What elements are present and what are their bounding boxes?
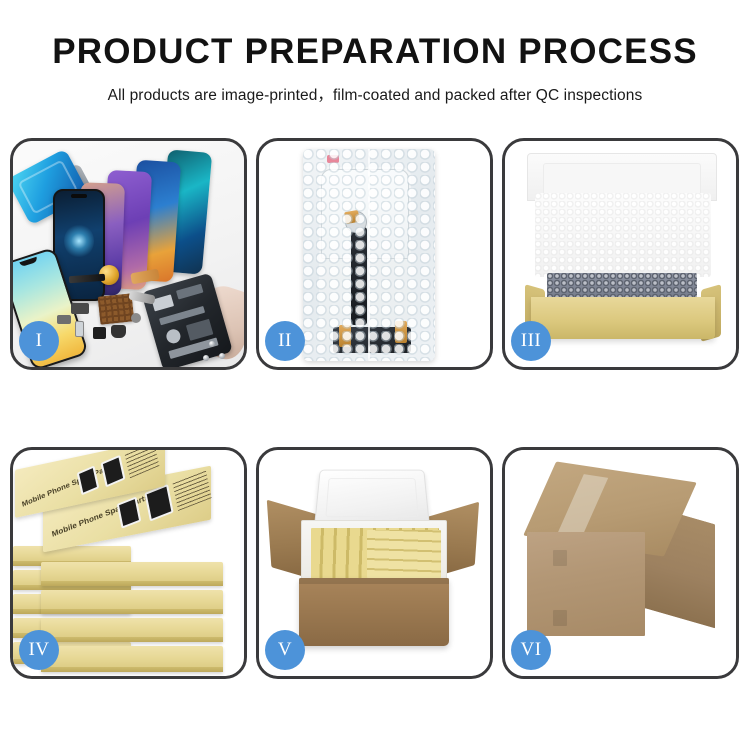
retail-box-spec-lines-2 (172, 470, 211, 511)
bubble-wrap-bag-graphic (303, 149, 435, 361)
retail-box-front-2 (41, 590, 223, 614)
retail-box-front-1 (41, 562, 223, 586)
step-badge-4: IV (19, 630, 59, 670)
packed-yellow-boxes-row-2 (367, 530, 441, 578)
step-badge-2: II (265, 321, 305, 361)
carton-front-face-graphic (527, 532, 645, 636)
screw-1-graphic (209, 341, 215, 347)
page-title: PRODUCT PREPARATION PROCESS (0, 34, 750, 71)
carton-front-wall-graphic (299, 578, 449, 646)
step-badge-5: V (265, 630, 305, 670)
step-panel-5: V (256, 447, 493, 679)
retail-box-screen-art-2b (144, 484, 173, 521)
step-panel-1: I (10, 138, 247, 370)
camera-module-graphic (111, 325, 126, 338)
retail-box-front-3 (41, 618, 223, 642)
retail-box-spec-lines-1 (125, 450, 160, 478)
screw-3-graphic (203, 355, 209, 361)
small-part-3-graphic (93, 327, 106, 339)
foam-lid-graphic (314, 470, 430, 528)
retail-box-front-4 (41, 646, 223, 672)
step-panel-3: III (502, 138, 739, 370)
step-panel-2: II (256, 138, 493, 370)
small-part-1-graphic (71, 303, 89, 314)
page-subtitle: All products are image-printed，film-coat… (0, 83, 750, 105)
white-foam-sheet-graphic (535, 193, 711, 277)
sim-tray-graphic (75, 321, 84, 337)
carton-seam-upper-graphic (553, 550, 567, 566)
step-panel-6: VI (502, 447, 739, 679)
step-badge-6: VI (511, 630, 551, 670)
retail-box-screen-art-1b (101, 455, 126, 488)
step-badge-1: I (19, 321, 59, 361)
box-front-wall-graphic (531, 297, 715, 339)
small-part-5-graphic (57, 315, 71, 324)
carton-seam-lower-graphic (553, 610, 567, 626)
step-badge-3: III (511, 321, 551, 361)
step-panel-4: Mobile Phone Spare Parts Mobile Phone Sp… (10, 447, 247, 679)
bag-seam-graphic (368, 149, 370, 361)
process-steps-grid: I II (10, 138, 740, 679)
screw-2-graphic (219, 353, 225, 359)
home-button-graphic (131, 313, 141, 323)
page-header: PRODUCT PREPARATION PROCESS All products… (0, 0, 750, 105)
